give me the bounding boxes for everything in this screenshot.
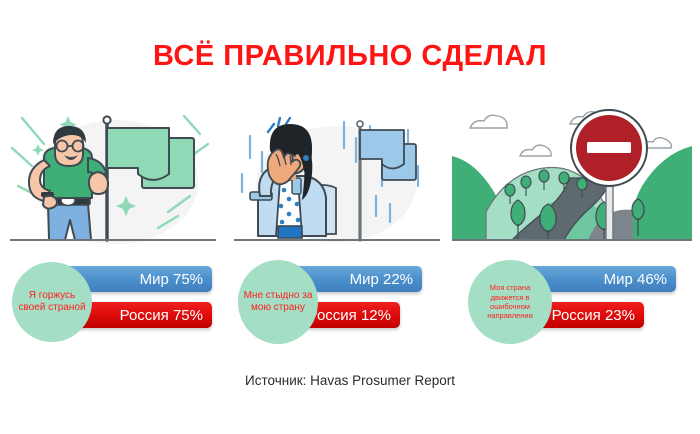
stat-group-shame: Мир 22% Россия 12% Мне стыдно за мою стр… xyxy=(238,262,438,342)
illustration-woman-facepalm xyxy=(232,100,442,250)
bar-russia-pride-label: Россия 75% xyxy=(120,307,203,324)
stat-label-circle-shame: Мне стыдно за мою страну xyxy=(238,260,318,344)
stat-label-shame-text: Мне стыдно за мою страну xyxy=(242,290,314,315)
woman-facepalm-icon xyxy=(232,100,442,250)
stat-group-pride: Мир 75% Россия 75% Я горжусь своей стран… xyxy=(12,262,222,342)
stat-label-circle-pride: Я горжусь своей страной xyxy=(12,262,92,342)
bar-world-shame-label: Мир 22% xyxy=(350,271,413,288)
stat-group-wrong-direction: Мир 46% Россия 23% Моя страна движется в… xyxy=(468,262,688,342)
bar-russia-shame-label: Россия 12% xyxy=(308,307,391,324)
bar-world-wrong-direction-label: Мир 46% xyxy=(604,271,667,288)
stat-label-wrong-direction-text: Моя страна движется в ошибочном направле… xyxy=(473,283,547,321)
bar-russia-wrong-direction-label: Россия 23% xyxy=(552,307,635,324)
stat-label-pride-text: Я горжусь своей страной xyxy=(16,290,88,315)
landscape-road-sign-icon xyxy=(452,100,692,250)
stat-label-circle-wrong-direction: Моя страна движется в ошибочном направле… xyxy=(468,260,552,344)
illustration-landscape-no-entry xyxy=(452,100,692,250)
bar-world-pride-label: Мир 75% xyxy=(140,271,203,288)
source-attribution: Источник: Havas Prosumer Report xyxy=(0,373,700,388)
page-title: ВСЁ ПРАВИЛЬНО СДЕЛАЛ xyxy=(0,40,700,73)
illustration-man-with-flag xyxy=(8,100,218,250)
man-with-flag-icon xyxy=(8,100,218,250)
infographic-page: ВСЁ ПРАВИЛЬНО СДЕЛАЛ xyxy=(0,0,700,434)
